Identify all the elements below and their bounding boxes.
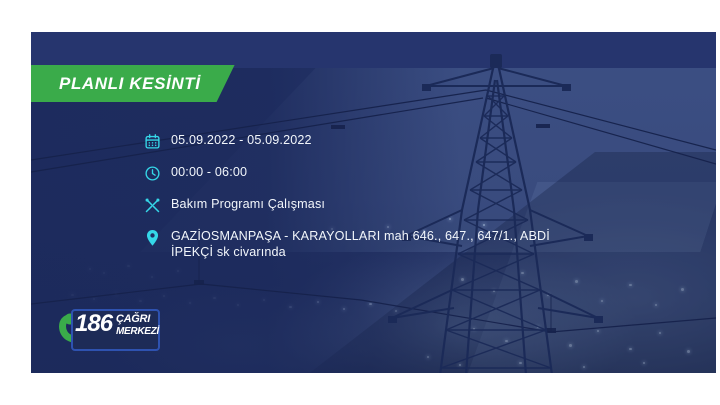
- outage-notice-poster: PLANLI KESİNTİ 05.09.2022 - 05.09.2022: [31, 32, 716, 373]
- logo-number: 186: [75, 312, 112, 336]
- calendar-icon: [141, 132, 163, 153]
- tools-icon: [141, 196, 163, 217]
- detail-text-reason: Bakım Programı Çalışması: [171, 196, 325, 212]
- logo-word-bottom: MERKEZİ: [116, 326, 159, 337]
- outage-details-list: 05.09.2022 - 05.09.2022 00:00 - 06:00: [141, 132, 581, 271]
- clock-icon: [141, 164, 163, 185]
- logo-word-top: ÇAĞRI: [116, 314, 150, 325]
- screenshot-canvas: PLANLI KESİNTİ 05.09.2022 - 05.09.2022: [0, 0, 720, 405]
- detail-row-reason: Bakım Programı Çalışması: [141, 196, 581, 217]
- ribbon-label: PLANLI KESİNTİ: [59, 74, 201, 94]
- detail-text-date: 05.09.2022 - 05.09.2022: [171, 132, 312, 148]
- detail-row-location: GAZİOSMANPAŞA - KARAYOLLARI mah 646., 64…: [141, 228, 581, 260]
- detail-text-time: 00:00 - 06:00: [171, 164, 247, 180]
- detail-row-time: 00:00 - 06:00: [141, 164, 581, 185]
- detail-row-date: 05.09.2022 - 05.09.2022: [141, 132, 581, 153]
- call-center-logo: 186 ÇAĞRI MERKEZİ: [58, 304, 163, 360]
- location-pin-icon: [141, 228, 163, 249]
- planned-outage-ribbon: PLANLI KESİNTİ: [31, 65, 235, 102]
- detail-text-location: GAZİOSMANPAŞA - KARAYOLLARI mah 646., 64…: [171, 228, 581, 260]
